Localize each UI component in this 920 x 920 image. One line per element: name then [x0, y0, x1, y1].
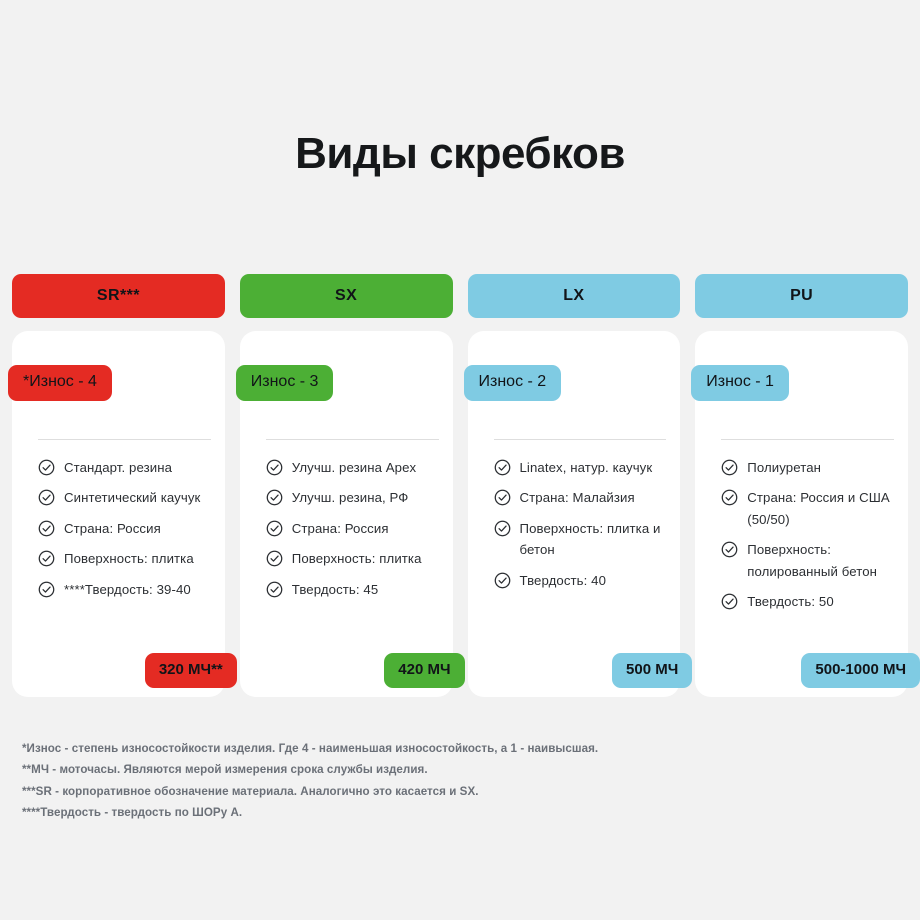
hours-badge[interactable]: 320 МЧ**: [145, 653, 237, 688]
product-column: LXИзнос - 2Linatex, натур. каучукСтрана:…: [468, 274, 681, 697]
footnote-line: *Износ - степень износостойкости изделия…: [22, 738, 882, 759]
check-circle-icon: [494, 572, 511, 589]
feature-label: Твердость: 40: [520, 570, 607, 591]
check-circle-icon: [266, 459, 283, 476]
feature-label: Поверхность: плитка: [292, 548, 422, 569]
feature-item: Стандарт. резина: [38, 457, 217, 478]
feature-label: Твердость: 45: [292, 579, 379, 600]
column-header-label: LX: [563, 287, 584, 305]
feature-label: Страна: Россия: [64, 518, 161, 539]
footnote-line: ***SR - корпоративное обозначение матери…: [22, 781, 882, 802]
feature-item: Linatex, натур. каучук: [494, 457, 673, 478]
feature-label: Твердость: 50: [747, 591, 834, 612]
check-circle-icon: [721, 541, 738, 558]
feature-item: Улучш. резина Apex: [266, 457, 445, 478]
feature-item: Твердость: 45: [266, 579, 445, 600]
feature-label: Страна: Россия и США (50/50): [747, 487, 900, 530]
feature-item: ****Твердость: 39-40: [38, 579, 217, 600]
check-circle-icon: [266, 489, 283, 506]
card-divider: [494, 439, 667, 440]
check-circle-icon: [494, 459, 511, 476]
feature-item: Страна: Россия: [266, 518, 445, 539]
check-circle-icon: [721, 489, 738, 506]
wear-badge[interactable]: *Износ - 4: [8, 365, 112, 401]
page-title: Виды скребков: [0, 129, 920, 179]
feature-label: Поверхность: плитка: [64, 548, 194, 569]
feature-item: Страна: Малайзия: [494, 487, 673, 508]
column-header-label: SX: [335, 287, 357, 305]
hours-badge-label: 420 МЧ: [398, 661, 450, 678]
feature-label: ****Твердость: 39-40: [64, 579, 191, 600]
feature-item: Твердость: 50: [721, 591, 900, 612]
check-circle-icon: [266, 550, 283, 567]
product-card: Износ - 1ПолиуретанСтрана: Россия и США …: [695, 331, 908, 697]
product-card: Износ - 2Linatex, натур. каучукСтрана: М…: [468, 331, 681, 697]
check-circle-icon: [494, 520, 511, 537]
feature-item: Поверхность: плитка: [266, 548, 445, 569]
hours-badge-label: 500 МЧ: [626, 661, 678, 678]
feature-label: Стандарт. резина: [64, 457, 172, 478]
card-divider: [266, 439, 439, 440]
footnote-line: **МЧ - моточасы. Являются мерой измерени…: [22, 759, 882, 780]
hours-badge[interactable]: 420 МЧ: [384, 653, 464, 688]
column-header-label: SR***: [97, 287, 140, 305]
product-column: SXИзнос - 3Улучш. резина ApexУлучш. рези…: [240, 274, 453, 697]
feature-item: Твердость: 40: [494, 570, 673, 591]
feature-item: Улучш. резина, РФ: [266, 487, 445, 508]
column-header-badge[interactable]: SR***: [12, 274, 225, 318]
column-header-badge[interactable]: SX: [240, 274, 453, 318]
feature-item: Поверхность: полированный бетон: [721, 539, 900, 582]
feature-label: Улучш. резина, РФ: [292, 487, 409, 508]
product-columns: SR****Износ - 4Стандарт. резинаСинтетиче…: [12, 274, 908, 697]
wear-badge-label: Износ - 1: [706, 373, 774, 390]
check-circle-icon: [38, 489, 55, 506]
hours-badge-label: 320 МЧ**: [159, 661, 223, 678]
feature-label: Полиуретан: [747, 457, 821, 478]
feature-item: Страна: Россия и США (50/50): [721, 487, 900, 530]
product-card: *Износ - 4Стандарт. резинаСинтетический …: [12, 331, 225, 697]
feature-label: Синтетический каучук: [64, 487, 200, 508]
feature-item: Полиуретан: [721, 457, 900, 478]
check-circle-icon: [266, 581, 283, 598]
column-header-badge[interactable]: LX: [468, 274, 681, 318]
hours-badge-label: 500-1000 МЧ: [815, 661, 906, 678]
feature-item: Синтетический каучук: [38, 487, 217, 508]
hours-badge[interactable]: 500-1000 МЧ: [801, 653, 920, 688]
feature-label: Linatex, натур. каучук: [520, 457, 653, 478]
feature-item: Поверхность: плитка: [38, 548, 217, 569]
product-column: PUИзнос - 1ПолиуретанСтрана: Россия и СШ…: [695, 274, 908, 697]
check-circle-icon: [494, 489, 511, 506]
check-circle-icon: [38, 520, 55, 537]
wear-badge-label: Износ - 3: [251, 373, 319, 390]
column-header-label: PU: [790, 287, 813, 305]
wear-badge[interactable]: Износ - 1: [691, 365, 789, 401]
feature-item: Страна: Россия: [38, 518, 217, 539]
check-circle-icon: [38, 550, 55, 567]
card-divider: [721, 439, 894, 440]
wear-badge[interactable]: Износ - 2: [464, 365, 562, 401]
feature-label: Поверхность: полированный бетон: [747, 539, 900, 582]
footnote-line: ****Твердость - твердость по ШОРу А.: [22, 802, 882, 823]
feature-label: Поверхность: плитка и бетон: [520, 518, 673, 561]
feature-list: Стандарт. резинаСинтетический каучукСтра…: [38, 457, 217, 609]
wear-badge-label: *Износ - 4: [23, 373, 97, 390]
column-header-badge[interactable]: PU: [695, 274, 908, 318]
check-circle-icon: [266, 520, 283, 537]
feature-list: Linatex, натур. каучукСтрана: МалайзияПо…: [494, 457, 673, 600]
feature-item: Поверхность: плитка и бетон: [494, 518, 673, 561]
feature-list: ПолиуретанСтрана: Россия и США (50/50)По…: [721, 457, 900, 621]
wear-badge[interactable]: Износ - 3: [236, 365, 334, 401]
hours-badge[interactable]: 500 МЧ: [612, 653, 692, 688]
feature-list: Улучш. резина ApexУлучш. резина, РФСтран…: [266, 457, 445, 609]
feature-label: Страна: Россия: [292, 518, 389, 539]
check-circle-icon: [38, 459, 55, 476]
check-circle-icon: [38, 581, 55, 598]
product-column: SR****Износ - 4Стандарт. резинаСинтетиче…: [12, 274, 225, 697]
feature-label: Страна: Малайзия: [520, 487, 635, 508]
footnotes: *Износ - степень износостойкости изделия…: [22, 738, 882, 823]
product-card: Износ - 3Улучш. резина ApexУлучш. резина…: [240, 331, 453, 697]
wear-badge-label: Износ - 2: [479, 373, 547, 390]
feature-label: Улучш. резина Apex: [292, 457, 417, 478]
check-circle-icon: [721, 593, 738, 610]
check-circle-icon: [721, 459, 738, 476]
card-divider: [38, 439, 211, 440]
